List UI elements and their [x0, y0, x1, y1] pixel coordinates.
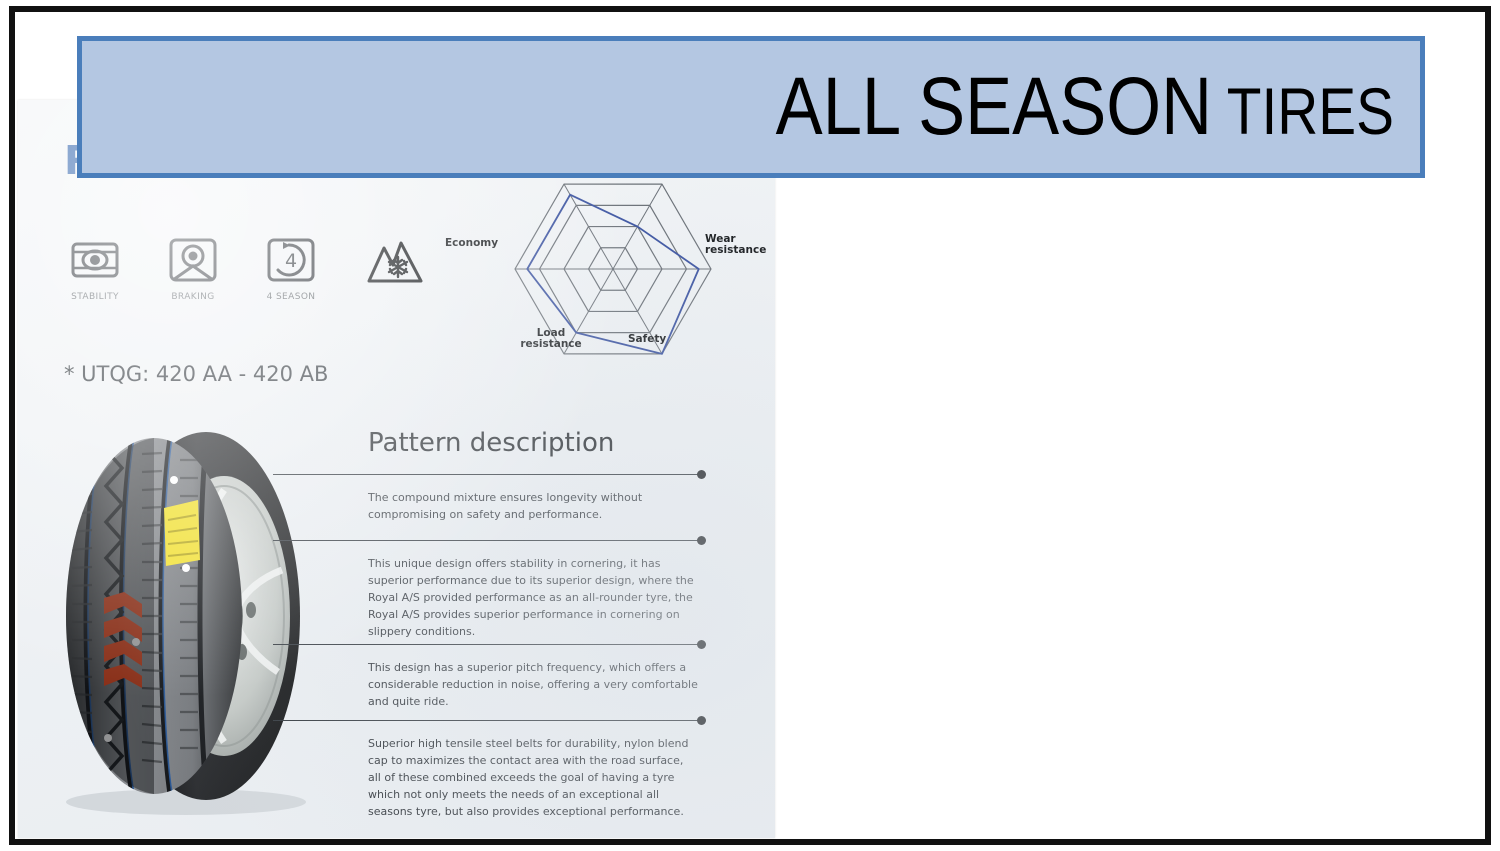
leader-line — [273, 470, 763, 480]
radar-chart-svg — [473, 142, 758, 397]
description-row: The compound mixture ensures longevity w… — [273, 470, 763, 523]
performance-radar-chart: Service time Permissibility Wear resista… — [473, 142, 758, 397]
three-peak-mountain-snowflake-icon — [364, 234, 426, 286]
description-row: This unique design offers stability in c… — [273, 536, 763, 640]
four-season-icon: 4 — [265, 234, 317, 286]
leader-line-stroke — [273, 540, 703, 541]
description-text: Superior high tensile steel belts for du… — [368, 735, 698, 820]
radar-label-economy: Economy — [445, 238, 498, 249]
slide-canvas: ROYAL A/S M+S STABILITY — [0, 0, 1500, 851]
radar-label-load-resistance: Load resistance — [519, 328, 583, 351]
leader-line — [273, 536, 763, 546]
leader-line-dot — [697, 716, 706, 725]
tire-datasheet-image: ROYAL A/S M+S STABILITY — [18, 100, 775, 838]
braking-icon — [167, 234, 219, 286]
leader-line-stroke — [273, 474, 703, 475]
feature-stability: STABILITY — [62, 234, 128, 302]
stability-icon — [69, 234, 121, 286]
description-text: This unique design offers stability in c… — [368, 555, 698, 640]
utqg-rating: * UTQG: 420 AA - 420 AB — [64, 362, 328, 386]
feature-four-season: 4 4 SEASON — [258, 234, 324, 302]
leader-line-stroke — [273, 720, 703, 721]
leader-line-stroke — [273, 644, 703, 645]
leader-line — [273, 716, 763, 726]
radar-label-wear-resistance: Wear resistance — [705, 234, 765, 257]
pattern-description-heading: Pattern description — [368, 428, 614, 458]
feature-braking: BRAKING — [160, 234, 226, 302]
radar-label-safety: Safety — [628, 334, 666, 345]
title-sub: TIRES — [1212, 74, 1394, 148]
description-text: This design has a superior pitch frequen… — [368, 659, 698, 710]
feature-icon-row: STABILITY BRAKING 4 4 SEASON — [62, 234, 434, 302]
leader-line-dot — [697, 536, 706, 545]
feature-label: STABILITY — [62, 292, 128, 302]
description-row: This design has a superior pitch frequen… — [273, 640, 763, 710]
description-text: The compound mixture ensures longevity w… — [368, 489, 698, 523]
feature-label: BRAKING — [160, 292, 226, 302]
title-banner: ALL SEASON TIRES — [77, 36, 1425, 178]
page-title: ALL SEASON TIRES — [776, 60, 1394, 154]
svg-text:4: 4 — [285, 250, 297, 272]
feature-three-peak-mountain-snowflake — [356, 234, 434, 292]
leader-line-dot — [697, 470, 706, 479]
leader-line — [273, 640, 763, 650]
feature-label: 4 SEASON — [258, 292, 324, 302]
leader-line-dot — [697, 640, 706, 649]
title-main: ALL SEASON — [776, 61, 1212, 152]
description-row: Superior high tensile steel belts for du… — [273, 716, 763, 820]
